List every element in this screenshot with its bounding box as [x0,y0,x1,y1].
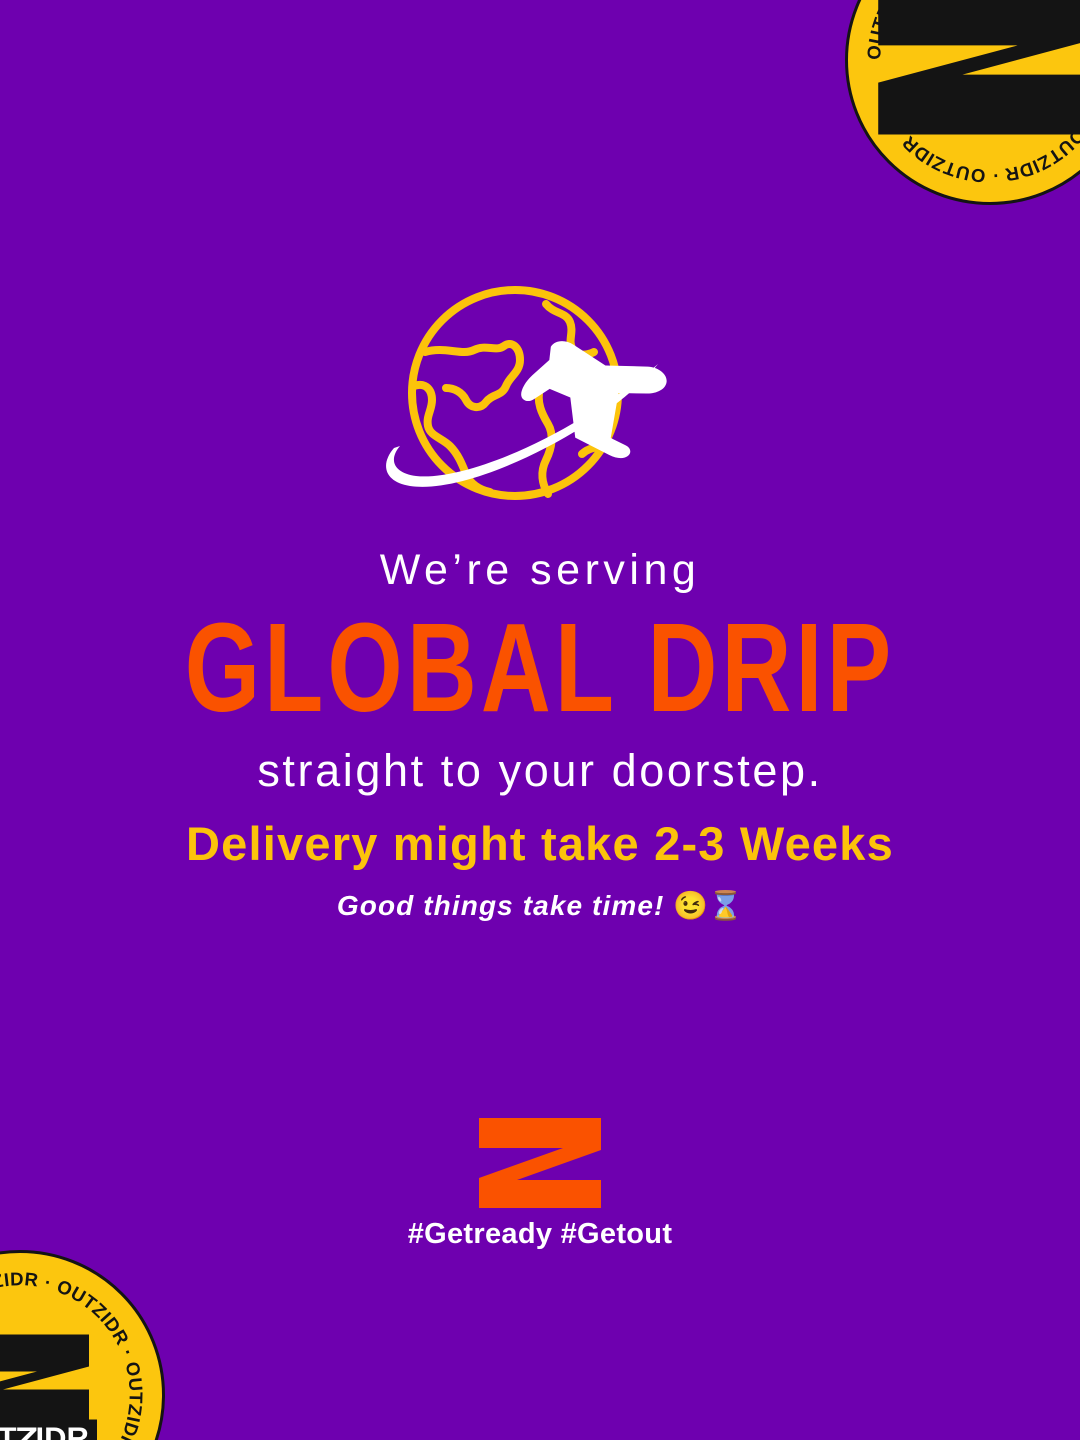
winking-face-icon: 😉 [673,890,708,921]
globe-airplane-icon [370,268,710,508]
delivery-tagline: Good things take time! 😉⌛ [0,889,1080,923]
hourglass-icon: ⌛ [708,890,743,921]
subline-text: straight to your doorstep. [0,747,1080,794]
hashtags-text: #Getready #Getout [408,1220,673,1249]
outzidr-badge-bottom-left: OUTZIDR · OUTZIDR · OUTZIDR · OUTZIDR · … [0,1250,165,1440]
delivery-notice-block: Delivery might take 2-3 Weeks Good thing… [0,818,1080,922]
headline-block: We’re serving GLOBAL DRIP straight to yo… [0,548,1080,794]
badge-core-bottom-left: OUTZIDR [0,1333,113,1440]
delivery-estimate-text: Delivery might take 2-3 Weeks [0,818,1080,870]
z-logo-icon [0,1333,95,1429]
badge-wordmark-z: Z [14,1423,38,1440]
delivery-tagline-text: Good things take time! [337,890,665,921]
kicker-text: We’re serving [0,548,1080,593]
z-logo-icon [477,1118,603,1208]
page-title: GLOBAL DRIP [0,605,1080,731]
promo-poster: OUTZIDR · OUTZIDR · OUTZIDR · OUTZIDR · … [0,0,1080,1440]
badge-core-top-right [839,0,1080,138]
hero-illustration [0,268,1080,508]
badge-wordmark-suffix: IDR [35,1421,88,1440]
badge-wordmark: OUTZIDR [0,1420,97,1440]
footer-lockup: #Getready #Getout [0,1118,1080,1249]
outzidr-badge-top-right: OUTZIDR · OUTZIDR · OUTZIDR · OUTZIDR · … [845,0,1080,205]
z-logo-icon [869,0,1080,138]
